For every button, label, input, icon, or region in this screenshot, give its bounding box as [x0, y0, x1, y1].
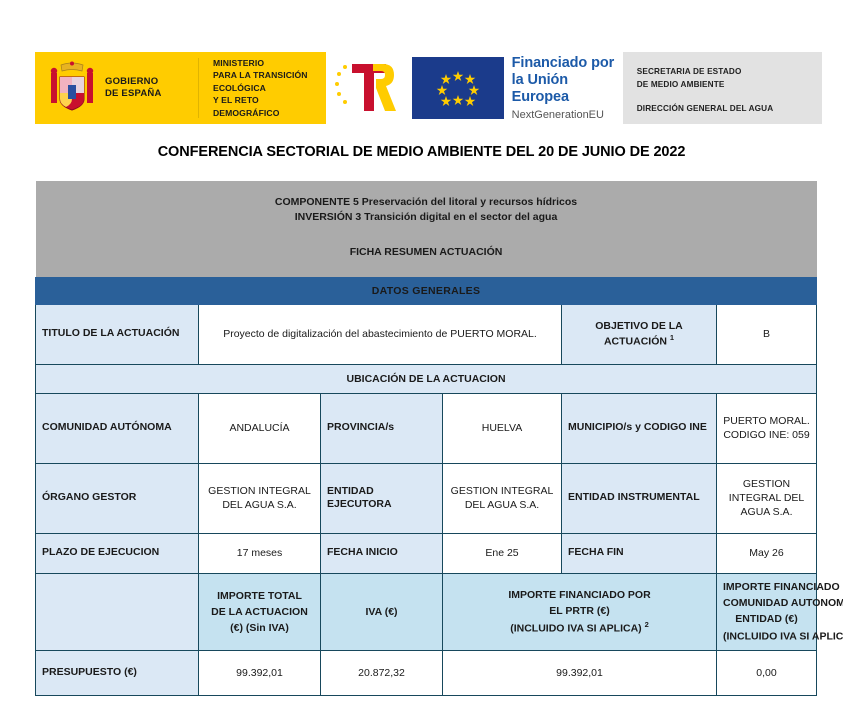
spain-coat-of-arms-icon: [49, 61, 95, 115]
ficha-resumen-table: COMPONENTE 5 Preservación del litoral y …: [35, 181, 817, 696]
objetivo-footnote-marker: 1: [670, 333, 674, 342]
table-row-titulo: TITULO DE LA ACTUACIÓN Proyecto de digit…: [36, 304, 817, 364]
value-comunidad-autonoma: ANDALUCÍA: [199, 393, 321, 463]
gobierno-label: GOBIERNO DE ESPAÑA: [105, 76, 162, 100]
direccion-general-agua: DIRECCIÓN GENERAL DEL AGUA: [637, 103, 822, 116]
institutional-logo-bar: GOBIERNO DE ESPAÑA MINISTERIO PARA LA TR…: [35, 52, 822, 124]
band-componente-inversion: COMPONENTE 5 Preservación del litoral y …: [36, 181, 817, 277]
table-row-budget-header: IMPORTE TOTAL DE LA ACTUACION (€) (Sin I…: [36, 573, 817, 651]
value-provincia: HUELVA: [443, 393, 562, 463]
value-fecha-inicio: Ene 25: [443, 533, 562, 573]
prtr-footnote-marker: 2: [645, 620, 649, 629]
label-fecha-fin: FECHA FIN: [562, 533, 717, 573]
label-fecha-inicio: FECHA INICIO: [321, 533, 443, 573]
label-presupuesto: PRESUPUESTO (€): [36, 651, 199, 696]
value-prtr: 99.392,01: [443, 651, 717, 696]
band-ubicacion-actuacion: UBICACIÓN DE LA ACTUACION: [36, 364, 817, 393]
table-row-organo-gestor: ÓRGANO GESTOR GESTION INTEGRAL DEL AGUA …: [36, 463, 817, 533]
value-municipio-codigo-ine: PUERTO MORAL. CODIGO INE: 059: [717, 393, 817, 463]
value-ccaa: 0,00: [717, 651, 817, 696]
secretaria-line-2: DE MEDIO AMBIENTE: [637, 79, 822, 92]
band-datos-generales: DATOS GENERALES: [36, 277, 817, 304]
secretaria-estado-block: SECRETARIA DE ESTADO DE MEDIO AMBIENTE D…: [623, 52, 822, 124]
label-objetivo-actuacion: OBJETIVO DE LA ACTUACIÓN 1: [562, 304, 717, 364]
secretaria-line-1: SECRETARIA DE ESTADO: [637, 66, 822, 79]
label-provincia: PROVINCIA/s: [321, 393, 443, 463]
value-fecha-fin: May 26: [717, 533, 817, 573]
label-entidad-ejecutora: ENTIDAD EJECUTORA: [321, 463, 443, 533]
ficha-resumen-text: FICHA RESUMEN ACTUACIÓN: [36, 245, 817, 260]
budget-col-prtr: IMPORTE FINANCIADO POR EL PRTR (€) (INCL…: [443, 573, 717, 651]
label-entidad-instrumental: ENTIDAD INSTRUMENTAL: [562, 463, 717, 533]
label-comunidad-autonoma: COMUNIDAD AUTÓNOMA: [36, 393, 199, 463]
table-row-presupuesto: PRESUPUESTO (€) 99.392,01 20.872,32 99.3…: [36, 651, 817, 696]
table-row-band-componente: COMPONENTE 5 Preservación del litoral y …: [36, 181, 817, 277]
budget-header-empty-cell: [36, 573, 199, 651]
value-objetivo-actuacion: B: [717, 304, 817, 364]
inversion-text: INVERSIÓN 3 Transición digital en el sec…: [36, 210, 817, 225]
gobierno-de-espana-logo: GOBIERNO DE ESPAÑA MINISTERIO PARA LA TR…: [35, 52, 326, 124]
budget-col-iva: IVA (€): [321, 573, 443, 651]
value-importe-total: 99.392,01: [199, 651, 321, 696]
ministerio-label: MINISTERIO PARA LA TRANSICIÓN ECOLÓGICA …: [213, 57, 326, 119]
document-page: GOBIERNO DE ESPAÑA MINISTERIO PARA LA TR…: [0, 0, 843, 720]
value-organo-gestor: GESTION INTEGRAL DEL AGUA S.A.: [199, 463, 321, 533]
value-entidad-instrumental: GESTION INTEGRAL DEL AGUA S.A.: [717, 463, 817, 533]
logo-divider: [198, 58, 199, 118]
label-plazo-ejecucion: PLAZO DE EJECUCION: [36, 533, 199, 573]
table-row-band-ubicacion: UBICACIÓN DE LA ACTUACION: [36, 364, 817, 393]
eu-funding-logo: Financiado por la Unión Europea NextGene…: [402, 52, 623, 124]
label-titulo-actuacion: TITULO DE LA ACTUACIÓN: [36, 304, 199, 364]
value-titulo-actuacion: Proyecto de digitalización del abastecim…: [199, 304, 562, 364]
value-plazo-ejecucion: 17 meses: [199, 533, 321, 573]
value-entidad-ejecutora: GESTION INTEGRAL DEL AGUA S.A.: [443, 463, 562, 533]
budget-col-importe-total: IMPORTE TOTAL DE LA ACTUACION (€) (Sin I…: [199, 573, 321, 651]
page-title: CONFERENCIA SECTORIAL DE MEDIO AMBIENTE …: [0, 144, 843, 160]
plan-recuperacion-icon: [332, 58, 396, 118]
prtr-logo: [326, 52, 402, 124]
eu-funding-text: Financiado por la Unión Europea NextGene…: [512, 55, 623, 121]
value-iva: 20.872,32: [321, 651, 443, 696]
label-municipio-codigo-ine: MUNICIPIO/s y CODIGO INE: [562, 393, 717, 463]
table-row-band-datos-generales: DATOS GENERALES: [36, 277, 817, 304]
european-union-flag-icon: [412, 57, 504, 119]
budget-col-ccaa: IMPORTE FINANCIADO POR LA COMUNIDAD AUTO…: [717, 573, 817, 651]
componente-text: COMPONENTE 5 Preservación del litoral y …: [36, 195, 817, 210]
table-row-ubicacion: COMUNIDAD AUTÓNOMA ANDALUCÍA PROVINCIA/s…: [36, 393, 817, 463]
label-organo-gestor: ÓRGANO GESTOR: [36, 463, 199, 533]
table-row-plazo: PLAZO DE EJECUCION 17 meses FECHA INICIO…: [36, 533, 817, 573]
